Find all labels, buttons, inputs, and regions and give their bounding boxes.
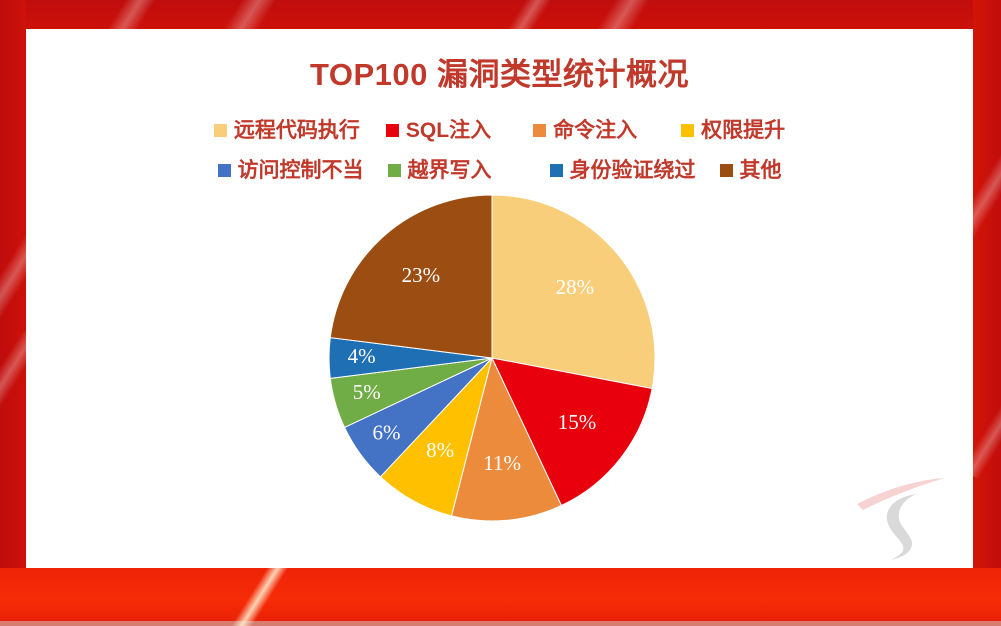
legend-swatch-icon [218, 164, 231, 177]
pie-slice-label: 28% [556, 275, 595, 299]
legend-item-sql-injection[interactable]: SQL注入 [386, 120, 491, 141]
slide-canvas: TOP100 漏洞类型统计概况 远程代码执行 SQL注入 命令注入 权 [0, 0, 1001, 626]
pie-slice-label: 4% [348, 344, 376, 368]
legend-swatch-icon [533, 124, 546, 137]
legend-item-label: 其他 [740, 160, 782, 181]
pie-slice[interactable] [380, 358, 492, 516]
legend-item-label: 权限提升 [701, 120, 785, 141]
legend-item-authentication-bypass[interactable]: 身份验证绕过 [550, 160, 696, 181]
pie-slice-label: 6% [373, 420, 401, 444]
legend-row-2: 访问控制不当 越界写入 身份验证绕过 其他 [26, 150, 973, 190]
pie-slice-label: 23% [402, 263, 441, 287]
legend-item-label: 远程代码执行 [234, 120, 360, 141]
frame-left-band [0, 0, 26, 626]
legend-item-label: 身份验证绕过 [570, 160, 696, 181]
legend-item-improper-access-control[interactable]: 访问控制不当 [218, 160, 364, 181]
legend-item-label: 命令注入 [553, 120, 637, 141]
legend-item-command-injection[interactable]: 命令注入 [533, 120, 637, 141]
pie-slice-label: 11% [483, 451, 521, 475]
frame-top-band [0, 0, 1001, 29]
frame-bottom-edge [0, 621, 1001, 626]
legend-item-label: 越界写入 [408, 160, 492, 181]
legend-item-label: SQL注入 [406, 120, 491, 141]
legend-swatch-icon [388, 164, 401, 177]
legend-swatch-icon [386, 124, 399, 137]
pie-slice-label: 8% [426, 438, 454, 462]
pie-slice[interactable] [492, 358, 652, 505]
chart-legend: 远程代码执行 SQL注入 命令注入 权限提升 访问控制不当 [26, 110, 973, 190]
pie-slice-label: 15% [558, 410, 597, 434]
page-title: TOP100 漏洞类型统计概况 [26, 49, 973, 94]
legend-item-privilege-escalation[interactable]: 权限提升 [681, 120, 785, 141]
page-title-text: TOP100 漏洞类型统计概况 [310, 57, 689, 92]
frame-bottom-band [0, 568, 1001, 626]
legend-row-1: 远程代码执行 SQL注入 命令注入 权限提升 [26, 110, 973, 150]
frame-right-band [973, 0, 1001, 626]
legend-swatch-icon [550, 164, 563, 177]
pie-slice[interactable] [330, 358, 492, 427]
pie-slice[interactable] [329, 338, 492, 379]
pie-slice[interactable] [492, 195, 655, 389]
legend-swatch-icon [720, 164, 733, 177]
pie-slice[interactable] [451, 358, 561, 521]
slide-content-panel: TOP100 漏洞类型统计概况 远程代码执行 SQL注入 命令注入 权 [26, 29, 973, 568]
legend-item-out-of-bounds-write[interactable]: 越界写入 [388, 160, 492, 181]
legend-item-other[interactable]: 其他 [720, 160, 782, 181]
legend-item-remote-code-execution[interactable]: 远程代码执行 [214, 120, 360, 141]
pie-slice-label: 5% [353, 380, 381, 404]
pie-slice[interactable] [330, 195, 492, 358]
legend-swatch-icon [681, 124, 694, 137]
legend-swatch-icon [214, 124, 227, 137]
company-logo-watermark [839, 456, 959, 566]
legend-item-label: 访问控制不当 [238, 160, 364, 181]
pie-slice[interactable] [345, 358, 492, 477]
